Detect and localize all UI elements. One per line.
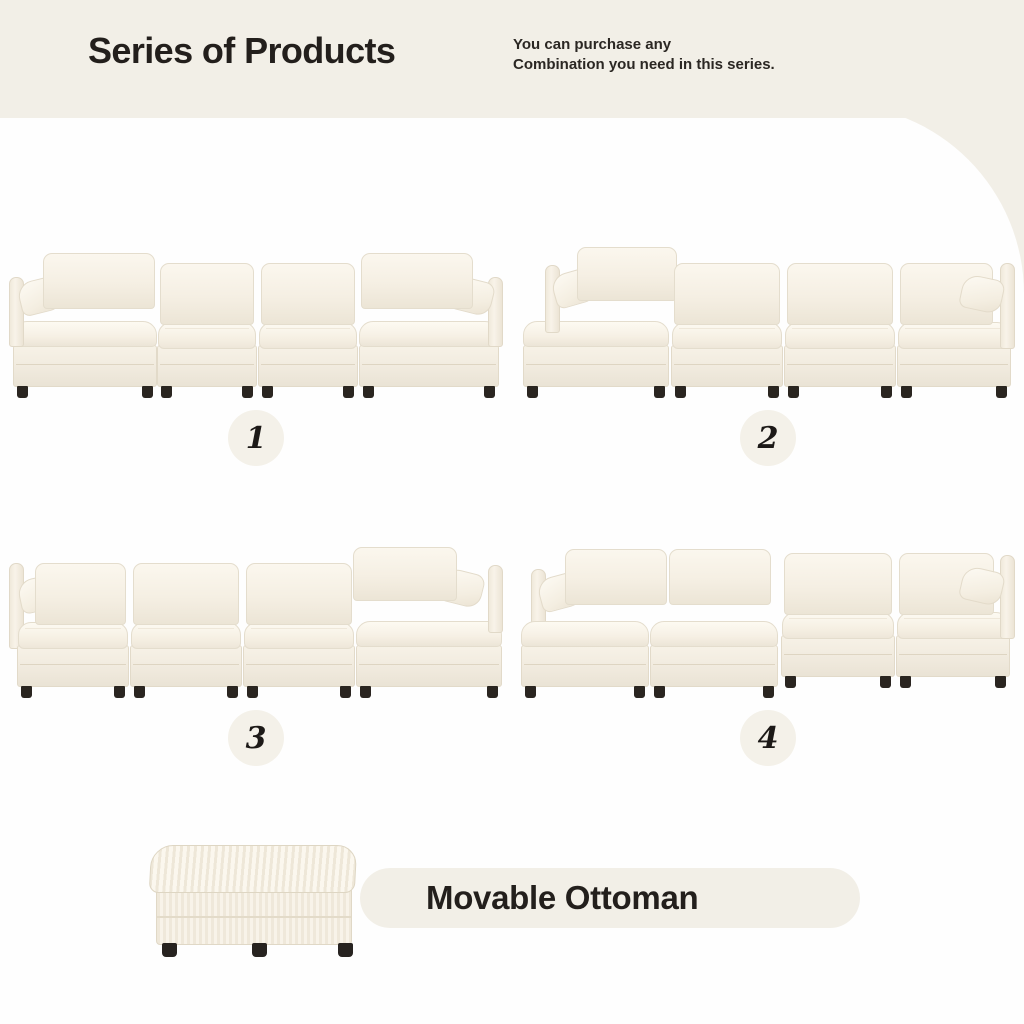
sofa-illustration-2	[521, 245, 1015, 405]
module-seat	[671, 257, 783, 387]
sofa-arm-right	[1000, 263, 1015, 349]
movable-ottoman-section: Movable Ottoman	[0, 810, 1024, 1010]
ottoman-base	[156, 887, 352, 945]
ottoman-cushion	[149, 845, 358, 893]
configuration-item-3[interactable]: 3	[0, 450, 512, 780]
module-cushion	[650, 621, 778, 647]
sofa-leg	[880, 676, 891, 688]
back-cushion	[35, 563, 126, 625]
module-ottoman	[650, 583, 778, 687]
back-cushion	[784, 553, 892, 615]
infographic-page: Series of Products You can purchase any …	[0, 0, 1024, 1024]
module-seat	[896, 549, 1010, 677]
configuration-badge-3: 3	[228, 710, 284, 766]
module-cushion	[13, 321, 157, 347]
ottoman-leg	[338, 943, 353, 957]
sofa-illustration-3	[9, 545, 503, 705]
module-base	[781, 635, 895, 677]
sofa-leg	[142, 386, 153, 398]
configuration-grid: 1	[0, 150, 1024, 810]
sofa-leg	[247, 686, 258, 698]
ottoman-leg	[162, 943, 177, 957]
sofa-illustration-4	[521, 545, 1015, 705]
back-cushion	[160, 263, 254, 325]
ottoman-leg	[252, 943, 267, 957]
configuration-item-4[interactable]: 4	[512, 450, 1024, 780]
sofa-leg	[527, 386, 538, 398]
sofa-leg	[675, 386, 686, 398]
sofa-leg	[484, 386, 495, 398]
module-cushion	[898, 322, 1010, 349]
module-base	[784, 345, 896, 387]
module-cushion	[521, 621, 649, 647]
module-cushion	[356, 621, 502, 647]
back-cushion	[133, 563, 239, 625]
sofa-leg	[21, 686, 32, 698]
ottoman-illustration	[148, 818, 368, 963]
module-base	[897, 345, 1011, 387]
module-ottoman	[521, 583, 649, 687]
module-seat	[781, 549, 895, 677]
back-cushion	[577, 247, 677, 301]
module-seat	[130, 557, 242, 687]
module-cushion	[897, 612, 1009, 639]
page-subtitle: You can purchase any Combination you nee…	[513, 35, 775, 75]
back-cushion	[261, 263, 355, 325]
sofa-illustration-1	[9, 245, 503, 405]
sofa-leg	[995, 676, 1006, 688]
sofa-arm-right	[488, 565, 503, 633]
module-seat	[897, 257, 1011, 387]
movable-ottoman-label: Movable Ottoman	[426, 879, 698, 917]
module-base	[13, 345, 157, 387]
sofa-leg	[114, 686, 125, 698]
sofa-leg	[881, 386, 892, 398]
sofa-leg	[340, 686, 351, 698]
module-base	[17, 645, 129, 687]
page-title: Series of Products	[88, 30, 395, 72]
sofa-leg	[996, 386, 1007, 398]
header-band: Series of Products You can purchase any …	[0, 0, 1024, 118]
back-cushion	[787, 263, 893, 325]
module-seat	[243, 557, 355, 687]
back-cushion	[43, 253, 155, 309]
sofa-leg	[262, 386, 273, 398]
configuration-item-2[interactable]: 2	[512, 150, 1024, 480]
configuration-item-1[interactable]: 1	[0, 150, 512, 480]
module-seat	[784, 257, 896, 387]
module-cushion	[131, 622, 241, 649]
sofa-leg	[654, 386, 665, 398]
sofa-leg	[17, 386, 28, 398]
module-cushion	[158, 322, 256, 349]
module-cushion	[782, 612, 894, 639]
sofa-leg	[785, 676, 796, 688]
sofa-leg	[360, 686, 371, 698]
module-cushion	[672, 322, 782, 349]
module-cushion	[244, 622, 354, 649]
sofa-leg	[768, 386, 779, 398]
back-cushion	[674, 263, 780, 325]
module-seat	[258, 259, 358, 387]
sofa-leg	[901, 386, 912, 398]
module-base	[130, 645, 242, 687]
sofa-leg	[900, 676, 911, 688]
sofa-leg	[242, 386, 253, 398]
back-cushion	[353, 547, 457, 601]
module-base	[650, 645, 778, 687]
back-cushion	[246, 563, 352, 625]
sofa-leg	[363, 386, 374, 398]
module-seat	[17, 557, 129, 687]
module-base	[896, 635, 1010, 677]
sofa-leg	[161, 386, 172, 398]
module-cushion	[259, 322, 357, 349]
sofa-arm-right	[1000, 555, 1015, 639]
module-base	[521, 645, 649, 687]
sofa-leg	[654, 686, 665, 698]
sofa-leg	[227, 686, 238, 698]
module-base	[258, 345, 358, 387]
module-cushion	[18, 622, 128, 649]
sofa-leg	[134, 686, 145, 698]
module-seat	[157, 259, 257, 387]
sofa-leg	[788, 386, 799, 398]
module-base	[523, 345, 669, 387]
sofa-leg	[487, 686, 498, 698]
sofa-leg	[634, 686, 645, 698]
sofa-leg	[763, 686, 774, 698]
movable-ottoman-banner: Movable Ottoman	[360, 868, 860, 928]
sofa-leg	[343, 386, 354, 398]
configuration-badge-4: 4	[740, 710, 796, 766]
back-cushion	[361, 253, 473, 309]
module-base	[243, 645, 355, 687]
module-base	[359, 345, 499, 387]
sofa-leg	[525, 686, 536, 698]
module-cushion	[785, 322, 895, 349]
module-base	[157, 345, 257, 387]
module-base	[671, 345, 783, 387]
module-base	[356, 645, 502, 687]
module-cushion	[359, 321, 499, 347]
